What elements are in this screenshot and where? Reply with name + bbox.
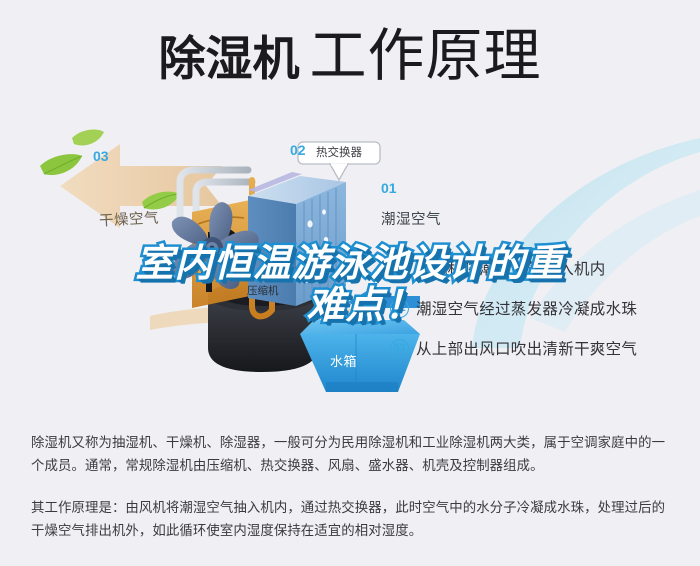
legend-badge-01: 01: [390, 259, 409, 278]
legend-item-02: 02 潮湿空气经过蒸发器冷凝成水珠: [390, 292, 690, 324]
leaf-icon-1: [40, 154, 82, 175]
legend-text-02: 潮湿空气经过蒸发器冷凝成水珠: [416, 297, 637, 319]
diagram-marker-03: 03: [93, 148, 109, 164]
legend-text-01: 由风机将潮湿空气抽入机内: [416, 257, 606, 279]
leaf-icon-2: [72, 130, 104, 146]
legend-text-03: 从上部出风口吹出清新干爽空气: [416, 337, 637, 359]
page-title: 除湿机工作原理: [0, 28, 700, 85]
body-paragraph-2: 其工作原理是：由风机将潮湿空气抽入机内，通过热交换器，此时空气中的水分子冷凝成水…: [31, 497, 671, 542]
legend-badge-02: 02: [390, 299, 409, 318]
compressor-label: 压缩机: [247, 283, 279, 298]
legend-item-01: 01 由风机将潮湿空气抽入机内: [390, 252, 690, 284]
legend-item-03: 03 从上部出风口吹出清新干爽空气: [390, 332, 690, 364]
legend-badge-03: 03: [390, 339, 409, 358]
diagram-marker-01: 01: [381, 180, 397, 196]
dry-air-label: 干燥空气: [98, 206, 159, 230]
page-title-part-1: 除湿机: [159, 32, 300, 85]
page-title-part-2: 工作原理: [310, 24, 542, 88]
body-paragraph-1: 除湿机又称为抽湿机、干燥机、除湿器，一般可分为民用除湿机和工业除湿机两大类，属于…: [31, 432, 671, 477]
diagram-marker-02: 02: [290, 142, 316, 162]
humid-air-label: 潮湿空气: [381, 208, 441, 229]
water-tank-label: 水箱: [330, 351, 357, 370]
legend-list: 01 由风机将潮湿空气抽入机内 02 潮湿空气经过蒸发器冷凝成水珠 03 从上部…: [390, 252, 690, 372]
infographic-page: 除湿机工作原理: [0, 0, 700, 566]
